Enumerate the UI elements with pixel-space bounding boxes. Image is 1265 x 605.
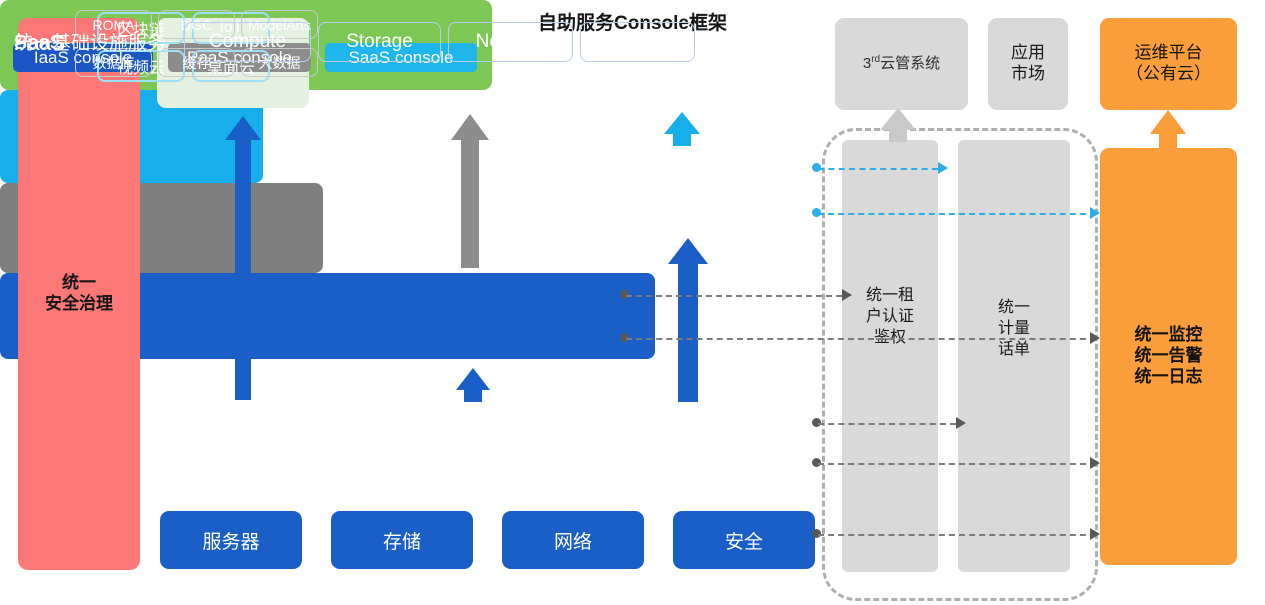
connector-line-infra-to-ops <box>818 463 1096 465</box>
infra-pill-cce[interactable]: CCE <box>580 22 695 62</box>
unified-security-governance-column[interactable]: 统一 安全治理 <box>18 18 140 570</box>
third-party-superscript: rd <box>871 54 880 65</box>
arrow-up-saas-to-console-icon <box>664 112 700 146</box>
arrow-up-infra-to-saas-icon <box>668 238 708 402</box>
arrowhead-paas-to-auth-icon <box>842 289 852 301</box>
metering-line2: 计量 <box>958 319 1070 340</box>
unified-tenant-auth-column[interactable]: 统一租 户认证 鉴权 <box>842 140 938 572</box>
arrow-up-to-ops-platform-icon <box>1150 110 1186 148</box>
metering-line3: 话单 <box>958 340 1070 361</box>
connector-line-hardware-to-ops <box>818 534 1096 536</box>
infra-pill-network[interactable]: Network <box>448 22 573 62</box>
security-label-line1: 统一 <box>45 273 113 294</box>
ops-top-line1: 运维平台 <box>1126 43 1211 64</box>
arrowhead-infra-to-auth-icon <box>956 417 966 429</box>
app-market-line1: 应用 <box>1011 43 1045 64</box>
arrow-up-paas-to-console-icon <box>451 114 489 268</box>
app-market-box[interactable]: 应用 市场 <box>988 18 1068 110</box>
metering-column-text: 统一 计量 话单 <box>958 298 1070 360</box>
hardware-box-network[interactable]: 网络 <box>502 511 644 569</box>
infrastructure-label: 统一基础设施服务 <box>14 28 166 55</box>
ops-bottom-line2: 统一告警 <box>1135 346 1203 367</box>
ops-top-line2: （公有云） <box>1126 64 1211 85</box>
arrowhead-paas-to-ops-icon <box>1090 332 1100 344</box>
unified-monitoring-alarm-log-column[interactable]: 统一监控 统一告警 统一日志 <box>1100 148 1237 565</box>
arrowhead-saas-to-ops-icon <box>1090 207 1100 219</box>
third-party-cloud-management-box[interactable]: 3rd云管系统 <box>835 18 968 110</box>
connector-line-saas-to-ops <box>818 213 1096 215</box>
connector-line-infra-to-auth <box>818 423 956 425</box>
auth-line1: 统一租 <box>842 286 938 307</box>
connector-line-saas-to-auth <box>818 168 938 170</box>
auth-line2: 户认证 <box>842 307 938 328</box>
security-label-line2: 安全治理 <box>45 294 113 315</box>
metering-line1: 统一 <box>958 298 1070 319</box>
ops-bottom-line1: 统一监控 <box>1135 325 1203 346</box>
arrowhead-saas-to-auth-icon <box>938 162 948 174</box>
arrowhead-hardware-to-ops-icon <box>1090 528 1100 540</box>
infra-pill-storage[interactable]: Storage <box>318 22 441 62</box>
third-party-label: 云管系统 <box>880 55 940 72</box>
hardware-box-security[interactable]: 安全 <box>673 511 815 569</box>
third-party-prefix: 3 <box>863 55 871 72</box>
hardware-box-storage[interactable]: 存储 <box>331 511 473 569</box>
ops-bottom-line3: 统一日志 <box>1135 367 1203 388</box>
arrowhead-infra-to-ops-icon <box>1090 457 1100 469</box>
ops-platform-public-cloud-box[interactable]: 运维平台 （公有云） <box>1100 18 1237 110</box>
infra-pill-compute[interactable]: Compute <box>184 22 311 62</box>
unified-metering-billing-column[interactable]: 统一 计量 话单 <box>958 140 1070 572</box>
architecture-diagram-canvas: 统一 安全治理 API网关 自助服务Console框架 IaaS console… <box>0 0 1265 605</box>
connector-line-paas-to-ops <box>626 338 1096 340</box>
hardware-box-server[interactable]: 服务器 <box>160 511 302 569</box>
app-market-line2: 市场 <box>1011 64 1045 85</box>
arrow-up-infra-to-paas-icon <box>456 368 490 402</box>
connector-line-paas-to-auth <box>626 295 842 297</box>
